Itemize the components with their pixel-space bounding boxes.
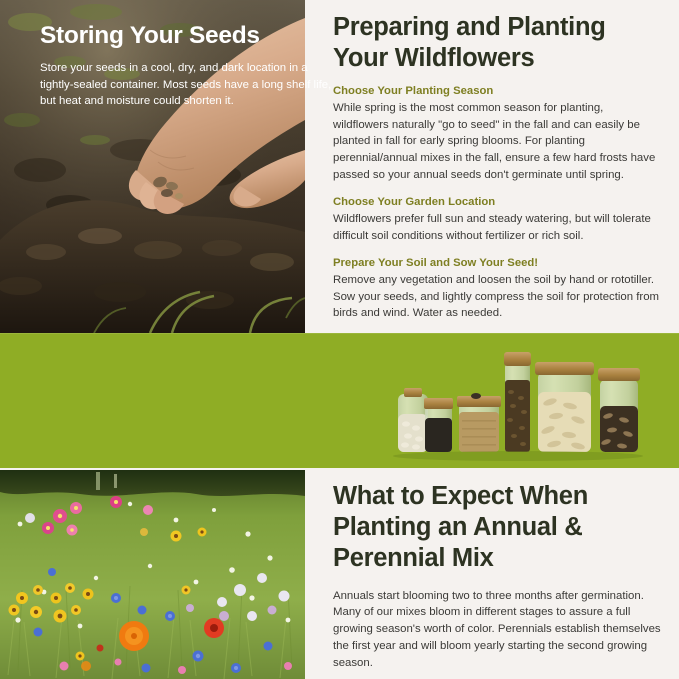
subheading-planting-season: Choose Your Planting Season	[333, 84, 661, 99]
expectations-text-column: What to Expect When Planting an Annual &…	[333, 472, 679, 679]
preparing-heading: Preparing and Planting Your Wildflowers	[333, 12, 661, 74]
infographic-page: Preparing and Planting Your Wildflowers …	[0, 0, 679, 679]
band-top-hairline	[0, 333, 679, 334]
subheading-garden-location: Choose Your Garden Location	[333, 195, 661, 210]
subheading-prepare-soil: Prepare Your Soil and Sow Your Seed!	[333, 256, 661, 271]
storing-body: Store your seeds in a cool, dry, and dar…	[40, 60, 340, 110]
seed-jars-photo	[378, 340, 679, 462]
preparing-text-column: Preparing and Planting Your Wildflowers …	[333, 0, 679, 333]
body-garden-location: Wildflowers prefer full sun and steady w…	[333, 211, 661, 245]
storing-text-column: Storing Your Seeds Store your seeds in a…	[40, 22, 340, 110]
body-planting-season: While spring is the most common season f…	[333, 100, 661, 184]
storing-heading: Storing Your Seeds	[40, 22, 340, 51]
expectations-body: Annuals start blooming two to three mont…	[333, 588, 661, 672]
expectations-heading: What to Expect When Planting an Annual &…	[333, 481, 661, 574]
wildflower-meadow-photo	[0, 470, 305, 679]
body-prepare-soil: Remove any vegetation and loosen the soi…	[333, 272, 661, 322]
